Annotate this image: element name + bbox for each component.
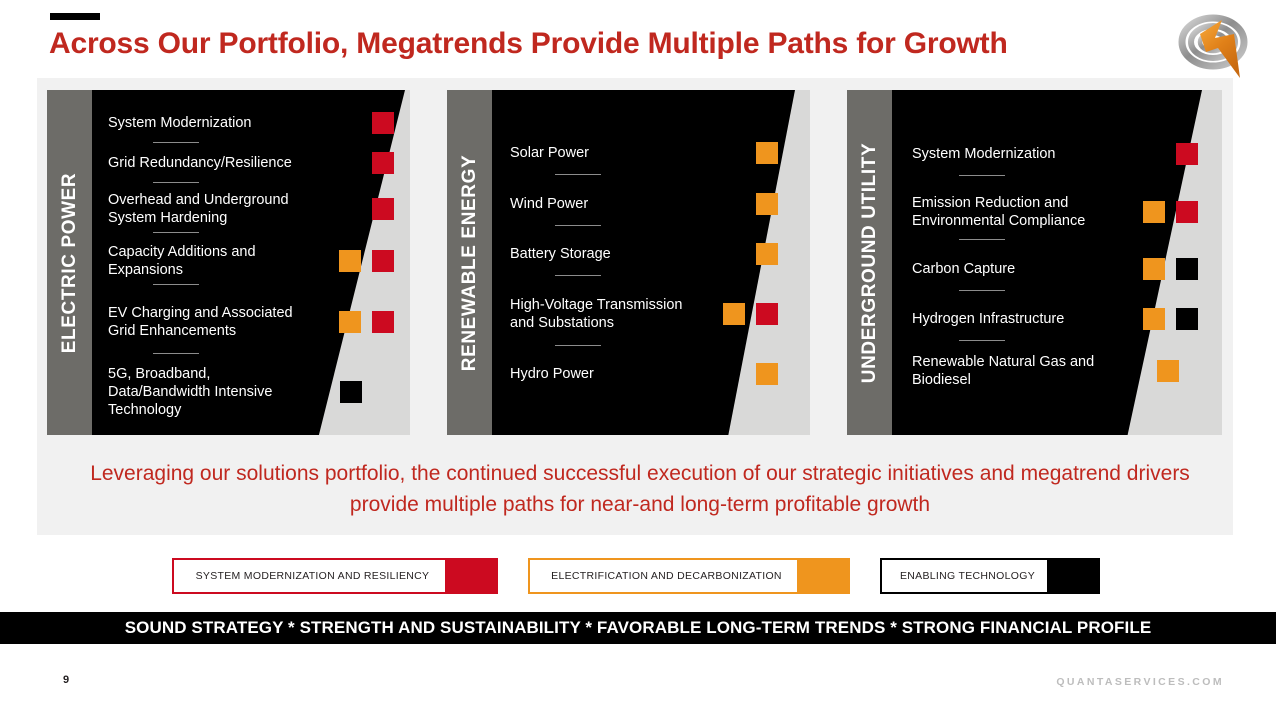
legend-label: SYSTEM MODERNIZATION AND RESILIENCY	[196, 570, 430, 582]
legend-swatch-red	[445, 558, 498, 594]
marker-orange	[1157, 360, 1179, 382]
summary-caption: Leveraging our solutions portfolio, the …	[90, 458, 1190, 520]
row-markers	[1157, 360, 1179, 382]
legend-label: ENABLING TECHNOLOGY	[900, 570, 1035, 582]
row-markers	[306, 311, 394, 333]
legend-label-box: ENABLING TECHNOLOGY	[880, 558, 1055, 594]
row-markers	[372, 152, 394, 174]
row-markers	[340, 381, 362, 403]
tagline-text: SOUND STRATEGY * STRENGTH AND SUSTAINABI…	[125, 618, 1152, 638]
row-markers	[1143, 201, 1198, 223]
row-label: Overhead and Underground System Hardenin…	[108, 191, 308, 227]
row-markers	[1176, 143, 1198, 165]
row-divider	[959, 175, 1005, 176]
list-item: Battery Storage	[447, 229, 810, 279]
list-item: Emission Reduction and Environmental Com…	[847, 180, 1222, 244]
marker-red	[372, 250, 394, 272]
list-item: System Modernization	[47, 103, 410, 143]
marker-red	[1176, 143, 1198, 165]
marker-orange	[339, 311, 361, 333]
legend-label-box: ELECTRIFICATION AND DECARBONIZATION	[528, 558, 805, 594]
row-label: Renewable Natural Gas and Biodiesel	[912, 353, 1122, 389]
marker-red	[372, 112, 394, 134]
row-divider	[555, 225, 601, 226]
marker-red	[372, 198, 394, 220]
list-item: 5G, Broadband, Data/Bandwidth Intensive …	[47, 357, 410, 427]
legend-swatch-black	[1047, 558, 1100, 594]
list-item: Carbon Capture	[847, 244, 1222, 294]
marker-black	[1176, 308, 1198, 330]
marker-orange	[756, 243, 778, 265]
row-label: System Modernization	[912, 145, 1122, 163]
page-title: Across Our Portfolio, Megatrends Provide…	[49, 25, 1149, 63]
row-markers	[339, 250, 394, 272]
panel-underground-utility: UNDERGROUND UTILITY System Modernization…	[847, 90, 1222, 435]
marker-red	[756, 303, 778, 325]
title-accent-rule	[50, 13, 100, 20]
marker-orange	[756, 363, 778, 385]
legend-item-system-modernization: SYSTEM MODERNIZATION AND RESILIENCY	[172, 558, 498, 594]
row-markers	[1143, 258, 1198, 280]
row-divider	[555, 345, 601, 346]
marker-orange	[1143, 201, 1165, 223]
legend-label-box: SYSTEM MODERNIZATION AND RESILIENCY	[172, 558, 453, 594]
marker-black	[340, 381, 362, 403]
row-label: Solar Power	[510, 144, 700, 162]
marker-red	[1176, 201, 1198, 223]
legend-label: ELECTRIFICATION AND DECARBONIZATION	[551, 570, 782, 582]
panel-electric-power: ELECTRIC POWER System Modernization Grid…	[47, 90, 410, 435]
list-item: EV Charging and Associated Grid Enhancem…	[47, 287, 410, 357]
marker-orange	[1143, 308, 1165, 330]
list-item: Grid Redundancy/Resilience	[47, 143, 410, 183]
list-item: Solar Power	[447, 127, 810, 179]
row-label: Carbon Capture	[912, 260, 1122, 278]
marker-orange	[339, 250, 361, 272]
row-divider	[153, 182, 199, 183]
list-item: Hydrogen Infrastructure	[847, 294, 1222, 344]
row-markers	[756, 193, 778, 215]
row-markers	[756, 142, 778, 164]
list-item: Renewable Natural Gas and Biodiesel	[847, 344, 1222, 398]
marker-black	[1176, 258, 1198, 280]
list-item: High-Voltage Transmission and Substation…	[447, 279, 810, 349]
marker-orange	[756, 142, 778, 164]
row-divider	[555, 174, 601, 175]
list-item: System Modernization	[847, 128, 1222, 180]
row-label: Wind Power	[510, 195, 700, 213]
row-label: Hydro Power	[510, 365, 700, 383]
list-item: Capacity Additions and Expansions	[47, 235, 410, 287]
marker-black	[306, 311, 328, 333]
marker-orange	[756, 193, 778, 215]
row-divider	[959, 340, 1005, 341]
row-markers	[756, 243, 778, 265]
list-item: Overhead and Underground System Hardenin…	[47, 183, 410, 235]
marker-red	[372, 152, 394, 174]
page-number: 9	[63, 674, 69, 686]
row-label: Battery Storage	[510, 245, 700, 263]
quanta-q-lightning-logo-icon	[1160, 8, 1266, 82]
row-label: Grid Redundancy/Resilience	[108, 154, 308, 172]
legend-swatch-orange	[797, 558, 850, 594]
row-divider	[153, 353, 199, 354]
row-divider	[153, 232, 199, 233]
row-label: EV Charging and Associated Grid Enhancem…	[108, 304, 308, 340]
legend-item-electrification: ELECTRIFICATION AND DECARBONIZATION	[528, 558, 850, 594]
marker-orange	[1143, 258, 1165, 280]
row-markers	[723, 303, 778, 325]
panel-row-list: System Modernization Grid Redundancy/Res…	[47, 90, 410, 435]
row-label: Emission Reduction and Environmental Com…	[912, 194, 1122, 230]
row-divider	[959, 290, 1005, 291]
tagline-banner: SOUND STRATEGY * STRENGTH AND SUSTAINABI…	[0, 612, 1276, 644]
panel-row-list: System Modernization Emission Reduction …	[847, 90, 1222, 435]
row-markers	[372, 112, 394, 134]
row-divider	[153, 142, 199, 143]
footer-url: QUANTASERVICES.COM	[1056, 676, 1224, 688]
row-label: Hydrogen Infrastructure	[912, 310, 1122, 328]
marker-red	[372, 311, 394, 333]
row-divider	[153, 284, 199, 285]
marker-orange	[723, 303, 745, 325]
row-label: Capacity Additions and Expansions	[108, 243, 308, 279]
row-markers	[756, 363, 778, 385]
row-divider	[555, 275, 601, 276]
row-markers	[1143, 308, 1198, 330]
row-label: 5G, Broadband, Data/Bandwidth Intensive …	[108, 365, 308, 419]
row-label: System Modernization	[108, 114, 308, 132]
row-markers	[372, 198, 394, 220]
panel-row-list: Solar Power Wind Power Battery Storage H…	[447, 90, 810, 435]
legend-item-enabling-technology: ENABLING TECHNOLOGY	[880, 558, 1100, 594]
row-label: High-Voltage Transmission and Substation…	[510, 296, 700, 332]
list-item: Wind Power	[447, 179, 810, 229]
list-item: Hydro Power	[447, 349, 810, 399]
row-divider	[959, 239, 1005, 240]
panel-renewable-energy: RENEWABLE ENERGY Solar Power Wind Power …	[447, 90, 810, 435]
